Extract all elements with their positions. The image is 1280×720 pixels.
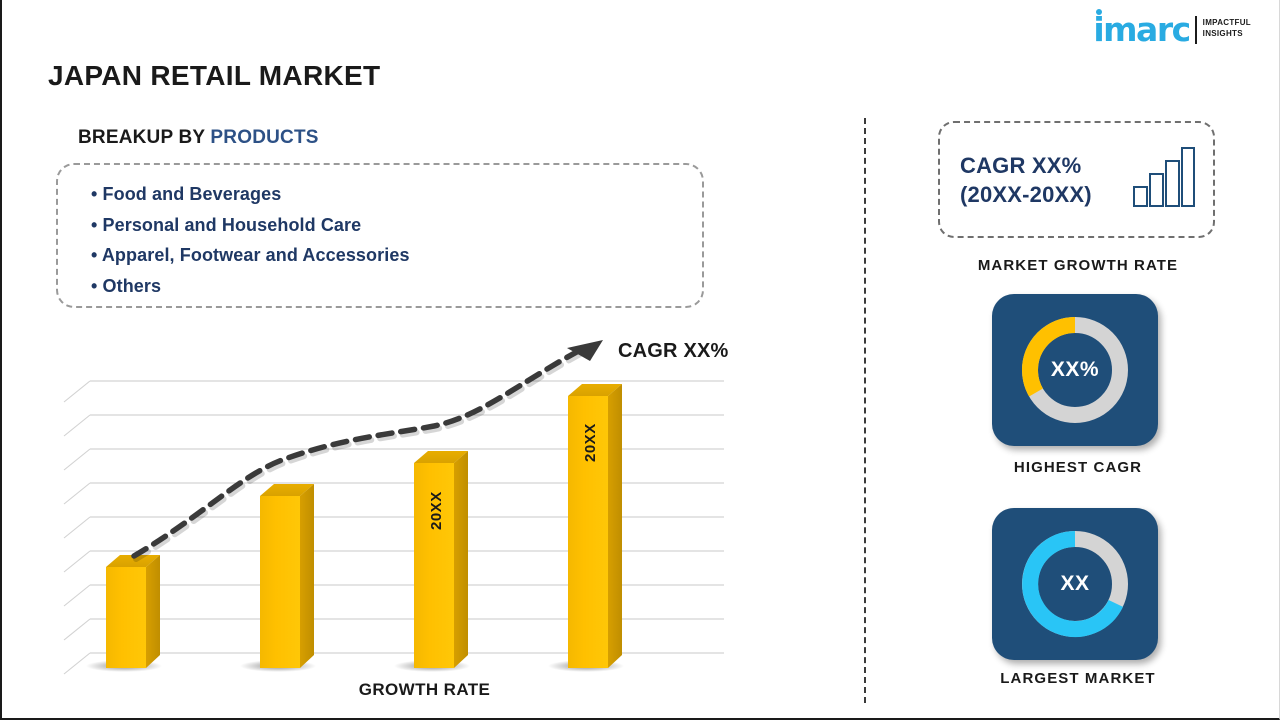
infographic-page: imarc IMPACTFUL INSIGHTS JAPAN RETAIL MA… bbox=[0, 0, 1280, 720]
largest-market-caption: LARGEST MARKET bbox=[938, 670, 1218, 687]
subtitle-prefix: BREAKUP BY bbox=[78, 127, 210, 148]
list-item: • Personal and Household Care bbox=[91, 210, 702, 241]
largest-market-card: XX bbox=[992, 508, 1158, 660]
bar-3 bbox=[414, 451, 468, 668]
market-growth-rate-caption: MARKET GROWTH RATE bbox=[938, 257, 1218, 274]
breakup-list-box: • Food and Beverages • Personal and Hous… bbox=[56, 163, 704, 308]
logo-wordmark-text: imarc bbox=[1093, 10, 1189, 49]
bar-1 bbox=[106, 555, 160, 668]
largest-market-value: XX bbox=[992, 508, 1158, 660]
growth-rate-chart: CAGR XX% 20XX 20XX GROWTH RATE bbox=[62, 330, 752, 700]
bar-label-4: 20XX bbox=[582, 423, 599, 462]
logo-tagline-line1: IMPACTFUL bbox=[1203, 18, 1251, 29]
bar-label-3: 20XX bbox=[428, 491, 445, 530]
cagr-text: CAGR XX% (20XX-20XX) bbox=[960, 151, 1092, 209]
highest-cagr-caption: HIGHEST CAGR bbox=[938, 459, 1218, 476]
subtitle-highlight: PRODUCTS bbox=[210, 127, 318, 148]
list-item: • Others bbox=[91, 271, 702, 302]
page-title: JAPAN RETAIL MARKET bbox=[48, 60, 380, 92]
logo-tagline: IMPACTFUL INSIGHTS bbox=[1203, 14, 1251, 39]
bar-chart-icon bbox=[1133, 147, 1195, 212]
market-growth-rate-box: CAGR XX% (20XX-20XX) bbox=[938, 121, 1215, 238]
chart-x-axis-label: GROWTH RATE bbox=[62, 680, 787, 700]
logo-tagline-line2: INSIGHTS bbox=[1203, 29, 1251, 40]
cagr-period: (20XX-20XX) bbox=[960, 180, 1092, 209]
highest-cagr-value: XX% bbox=[992, 294, 1158, 446]
chart-svg bbox=[62, 330, 762, 680]
logo-wordmark: imarc bbox=[1093, 14, 1189, 46]
chart-depth-ticks bbox=[64, 381, 90, 674]
chart-cagr-label: CAGR XX% bbox=[618, 340, 729, 363]
section-divider bbox=[864, 118, 866, 703]
list-item: • Apparel, Footwear and Accessories bbox=[91, 240, 702, 271]
imarc-logo: imarc IMPACTFUL INSIGHTS bbox=[1093, 14, 1251, 50]
trend-line bbox=[134, 348, 586, 559]
bar-2 bbox=[260, 484, 314, 668]
logo-divider bbox=[1195, 16, 1197, 44]
bar-shadows bbox=[86, 660, 624, 672]
page-subtitle: BREAKUP BY PRODUCTS bbox=[78, 127, 319, 149]
highest-cagr-card: XX% bbox=[992, 294, 1158, 446]
cagr-value: CAGR XX% bbox=[960, 151, 1092, 180]
chart-gridlines bbox=[90, 381, 724, 653]
list-item: • Food and Beverages bbox=[91, 179, 702, 210]
